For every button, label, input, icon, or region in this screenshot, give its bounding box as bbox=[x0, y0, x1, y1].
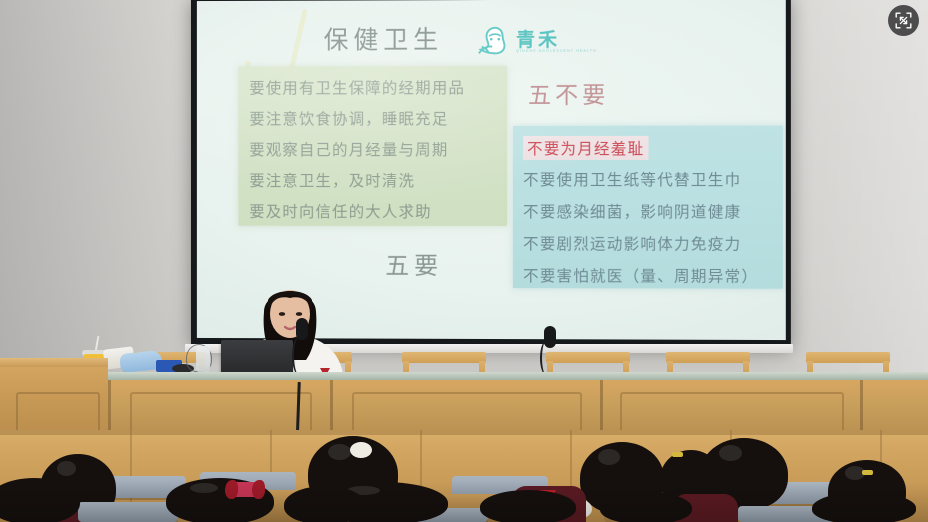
logo-subtitle: QINGHE ADOLESCENT HEALTH bbox=[516, 49, 597, 53]
green-line: 要观察自己的月经量与周期 bbox=[249, 138, 448, 160]
hair-clip bbox=[672, 452, 683, 457]
hair-scrunchie bbox=[350, 442, 372, 458]
blue-line: 不要害怕就医（量、周期异常） bbox=[523, 264, 758, 287]
hair-bow bbox=[232, 482, 258, 497]
auditorium-seat bbox=[78, 502, 178, 522]
expand-fullscreen-button[interactable] bbox=[888, 5, 919, 36]
water-bottle bbox=[196, 346, 210, 372]
hair-clip bbox=[862, 470, 873, 475]
blue-block-heading: 五不要 bbox=[528, 76, 609, 110]
blue-line: 不要使用卫生纸等代替卫生巾 bbox=[523, 168, 741, 190]
expand-icon bbox=[895, 12, 912, 29]
green-line: 要注意饮食协调，睡眠充足 bbox=[249, 107, 448, 129]
microphone-stem bbox=[540, 340, 554, 376]
student-head bbox=[284, 486, 366, 522]
student-audience bbox=[0, 420, 928, 522]
slide-blue-text-block: 不要为月经羞耻 不要使用卫生纸等代替卫生巾 不要感染细菌，影响阴道健康 不要剧烈… bbox=[513, 126, 783, 289]
slide-green-text-block: 要使用有卫生保障的经期用品 要注意饮食协调，睡眠充足 要观察自己的月经量与周期 … bbox=[238, 66, 507, 226]
screenshot-root: 保健卫生 青禾 QINGHE ADOLESCENT HEALTH 要使用有卫生保… bbox=[0, 0, 928, 522]
wall-shadow-left bbox=[0, 0, 200, 400]
green-line: 要及时向信任的大人求助 bbox=[249, 200, 432, 222]
slide-title: 保健卫生 bbox=[324, 20, 443, 56]
green-block-heading: 五要 bbox=[385, 246, 443, 281]
green-line: 要使用有卫生保障的经期用品 bbox=[249, 76, 465, 98]
blue-line-highlighted: 不要为月经羞耻 bbox=[523, 136, 648, 160]
brand-logo: 青禾 QINGHE ADOLESCENT HEALTH bbox=[476, 23, 561, 65]
student-head bbox=[812, 492, 916, 522]
student-head bbox=[480, 490, 576, 522]
sprout-mascot-icon bbox=[476, 24, 514, 60]
student-head bbox=[600, 492, 692, 522]
blue-line: 不要感染细菌，影响阴道健康 bbox=[523, 200, 741, 222]
microphone-stem bbox=[292, 336, 308, 376]
blue-line: 不要剧烈运动影响体力免疫力 bbox=[523, 232, 741, 254]
green-line: 要注意卫生，及时清洗 bbox=[249, 169, 415, 191]
student-head bbox=[0, 478, 80, 522]
